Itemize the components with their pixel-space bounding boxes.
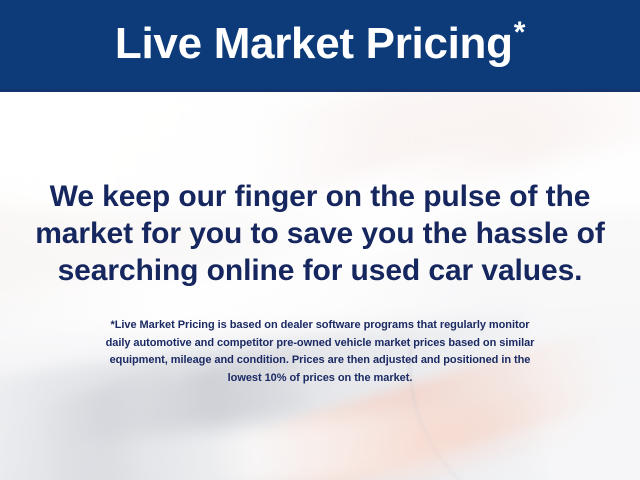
disclaimer-line: *Live Market Pricing is based on dealer … <box>26 317 614 335</box>
headline-line: market for you to save you the hassle of <box>22 215 618 252</box>
disclaimer-line: equipment, mileage and condition. Prices… <box>26 352 614 370</box>
headline-block: We keep our finger on the pulse of the m… <box>0 178 640 289</box>
disclaimer-line: daily automotive and competitor pre-owne… <box>26 335 614 353</box>
banner-title-text: Live Market Pricing <box>115 19 513 68</box>
header-banner: Live Market Pricing* <box>0 0 640 89</box>
disclaimer-line: lowest 10% of prices on the market. <box>26 370 614 388</box>
headline-line: We keep our finger on the pulse of the <box>22 178 618 215</box>
disclaimer-block: *Live Market Pricing is based on dealer … <box>0 317 640 387</box>
banner-bottom-rule <box>0 89 640 92</box>
content-area: We keep our finger on the pulse of the m… <box>0 92 640 480</box>
footnote-asterisk: * <box>514 16 525 49</box>
banner-title: Live Market Pricing* <box>115 22 525 66</box>
headline-line: searching online for used car values. <box>22 252 618 289</box>
live-market-pricing-slide: Live Market Pricing* We keep our finger … <box>0 0 640 480</box>
